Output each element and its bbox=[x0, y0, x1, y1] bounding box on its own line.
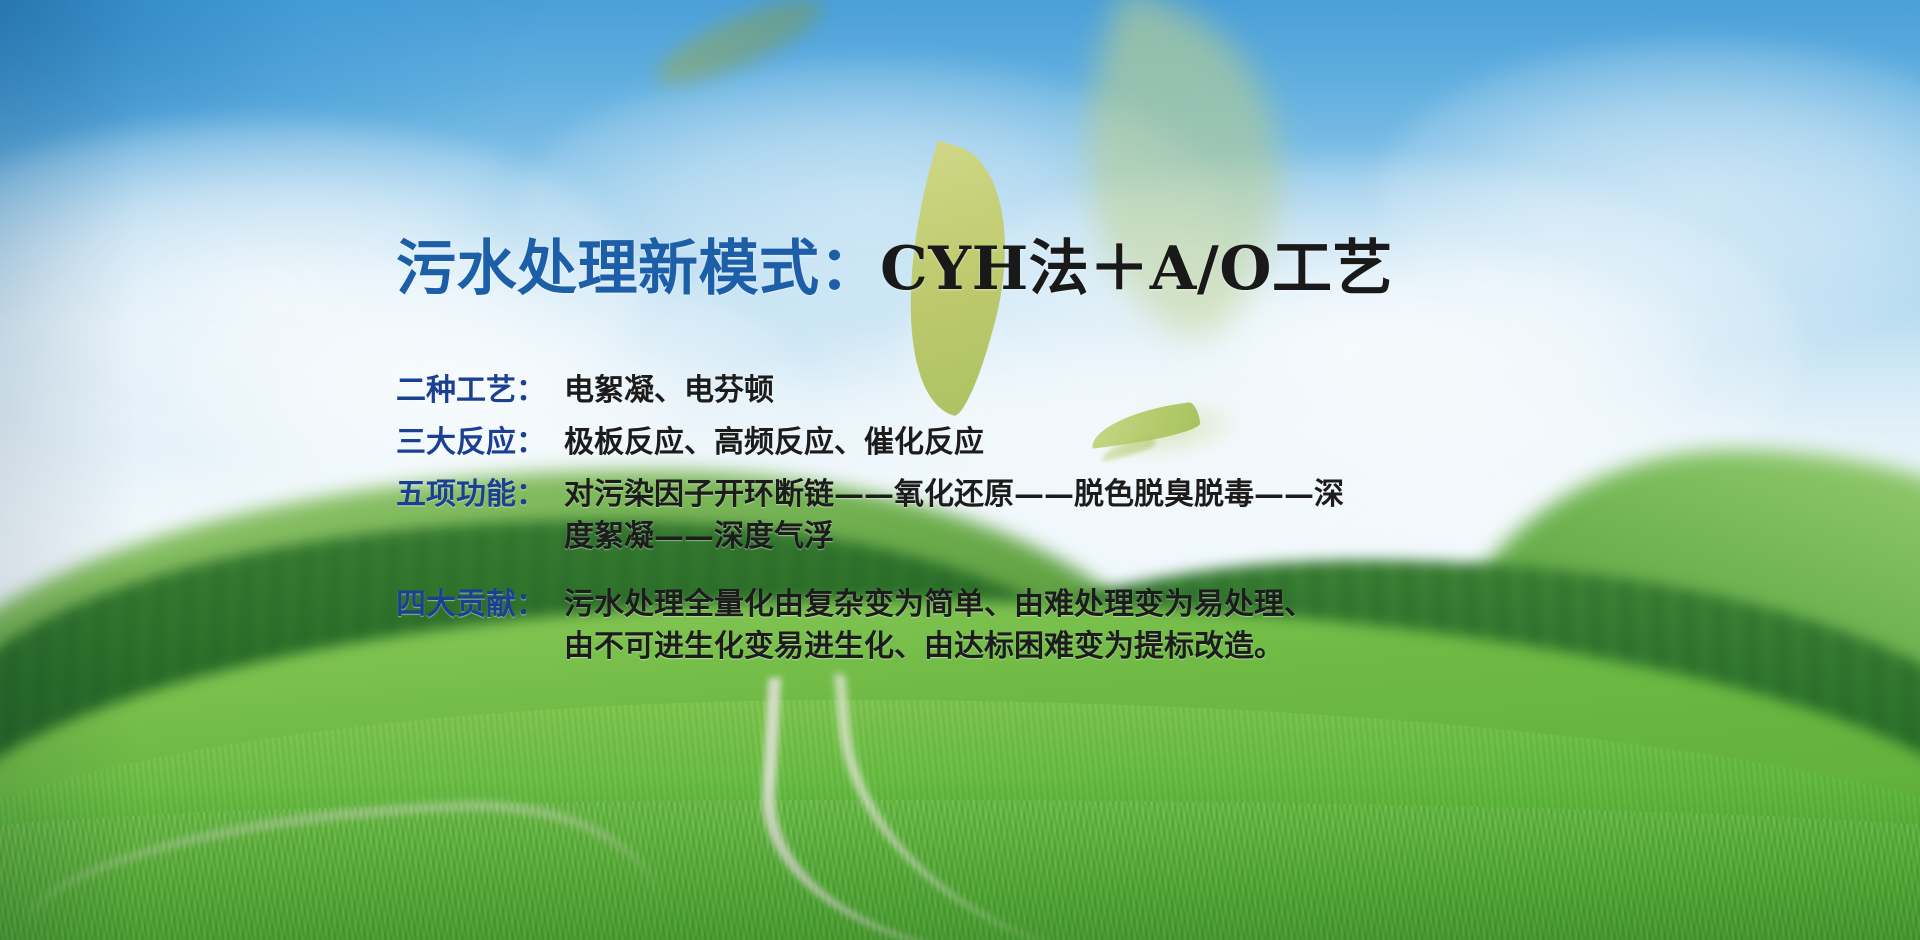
bullet-value: 极板反应、高频反应、催化反应 bbox=[564, 422, 1496, 464]
bullet-label: 二种工艺： bbox=[396, 370, 564, 412]
page-title: 污水处理新模式：CYH法＋A/O工艺 bbox=[396, 238, 1393, 301]
bullet-value-line2: 度絮凝——深度气浮 bbox=[564, 516, 1496, 558]
slide-canvas: 污水处理新模式：CYH法＋A/O工艺 二种工艺： 电絮凝、电芬顿 三大反应： 极… bbox=[0, 0, 1920, 940]
list-item: 四大贡献： 污水处理全量化由复杂变为简单、由难处理变为易处理、 由不可进生化变易… bbox=[396, 584, 1496, 668]
list-item: 五项功能： 对污染因子开环断链——氧化还原——脱色脱臭脱毒——深 度絮凝——深度… bbox=[396, 474, 1496, 558]
bullet-label: 四大贡献： bbox=[396, 584, 564, 626]
bullet-value: 对污染因子开环断链——氧化还原——脱色脱臭脱毒——深 度絮凝——深度气浮 bbox=[564, 474, 1496, 558]
bullet-value-line2: 由不可进生化变易进生化、由达标困难变为提标改造。 bbox=[564, 626, 1496, 668]
bullet-label: 三大反应： bbox=[396, 422, 564, 464]
list-item: 三大反应： 极板反应、高频反应、催化反应 bbox=[396, 422, 1496, 464]
list-item: 二种工艺： 电絮凝、电芬顿 bbox=[396, 370, 1496, 412]
bullet-value: 污水处理全量化由复杂变为简单、由难处理变为易处理、 由不可进生化变易进生化、由达… bbox=[564, 584, 1496, 668]
bullet-label: 五项功能： bbox=[396, 474, 564, 516]
bullet-value-line1: 极板反应、高频反应、催化反应 bbox=[564, 425, 984, 460]
bullet-value: 电絮凝、电芬顿 bbox=[564, 370, 1496, 412]
bullet-list: 二种工艺： 电絮凝、电芬顿 三大反应： 极板反应、高频反应、催化反应 五项功能：… bbox=[396, 370, 1496, 678]
bullet-value-line1: 电絮凝、电芬顿 bbox=[564, 373, 774, 408]
bullet-value-line1: 污水处理全量化由复杂变为简单、由难处理变为易处理、 bbox=[564, 587, 1314, 622]
bullet-value-line1: 对污染因子开环断链——氧化还原——脱色脱臭脱毒——深 bbox=[564, 477, 1344, 512]
title-latin-part: CYH法＋A/O工艺 bbox=[880, 234, 1393, 304]
slide-content: 污水处理新模式：CYH法＋A/O工艺 二种工艺： 电絮凝、电芬顿 三大反应： 极… bbox=[0, 0, 1920, 940]
title-chinese-part: 污水处理新模式： bbox=[396, 234, 880, 304]
